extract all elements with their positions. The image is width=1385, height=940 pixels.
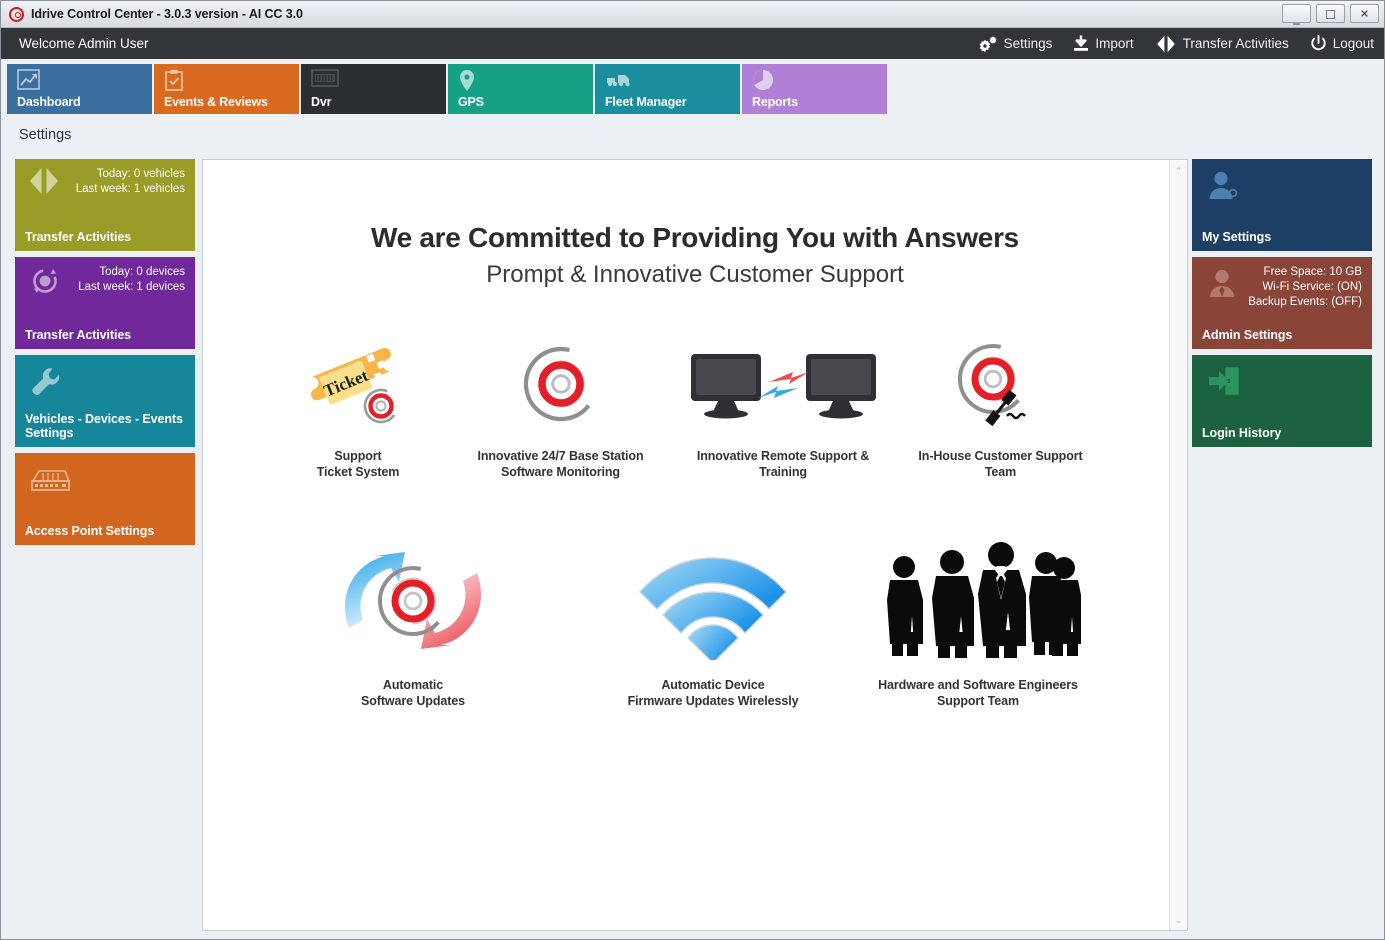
tab-fleet-manager[interactable]: Fleet Manager xyxy=(595,64,740,114)
feature-in-house-support-team: In-House Customer Support Team xyxy=(898,331,1103,480)
left-sidebar: Today: 0 vehicles Last week: 1 vehicles … xyxy=(15,159,195,551)
remote-monitors-icon xyxy=(668,331,898,436)
tile-title: Vehicles - Devices - Events Settings xyxy=(25,412,185,440)
map-pin-icon xyxy=(458,69,476,98)
sidebar-tile-vehicles-devices-events-settings[interactable]: Vehicles - Devices - Events Settings xyxy=(15,355,195,447)
maximize-icon: □ xyxy=(1317,8,1344,19)
header-bar: Welcome Admin User Settings xyxy=(1,28,1384,59)
sync-arrows-target-icon xyxy=(263,535,563,665)
feature-label: Automatic Device Firmware Updates Wirele… xyxy=(563,677,863,709)
clipboard-check-icon xyxy=(164,69,184,96)
header-logout-button[interactable]: Logout xyxy=(1310,35,1374,52)
feature-label: Innovative Remote Support & Training xyxy=(668,448,898,480)
tab-dvr[interactable]: Dvr xyxy=(301,64,446,114)
header-logout-label: Logout xyxy=(1333,36,1374,51)
page-title: We are Committed to Providing You with A… xyxy=(203,222,1187,254)
sidebar-tile-access-point-settings[interactable]: Access Point Settings xyxy=(15,453,195,545)
feature-grid: Ticket Support Ticket System xyxy=(203,331,1187,709)
tile-stats: Free Space: 10 GB Wi-Fi Service: (ON) Ba… xyxy=(1202,265,1362,310)
feature-row-1: Ticket Support Ticket System xyxy=(263,331,1147,480)
tab-dashboard-label: Dashboard xyxy=(17,95,81,109)
feature-row-2: Automatic Software Updates xyxy=(263,535,1147,709)
tile-stat-line: Today: 0 vehicles xyxy=(25,167,185,182)
tile-title: Transfer Activities xyxy=(25,328,131,342)
feature-support-ticket-system: Ticket Support Ticket System xyxy=(263,331,453,480)
header-import-button[interactable]: Import xyxy=(1073,35,1133,52)
header-settings-button[interactable]: Settings xyxy=(978,35,1053,53)
feature-device-firmware-updates: Automatic Device Firmware Updates Wirele… xyxy=(563,535,863,709)
content-scrollbar[interactable]: ⌃ ⌄ xyxy=(1169,161,1186,931)
chart-line-icon xyxy=(17,69,41,96)
right-sidebar: My Settings Free Space: 10 GB Wi-Fi Serv… xyxy=(1192,159,1372,453)
close-button[interactable]: ✕ xyxy=(1350,4,1379,23)
gears-icon xyxy=(978,35,998,53)
minimize-button[interactable]: _ xyxy=(1282,4,1311,23)
window-title: Idrive Control Center - 3.0.3 version - … xyxy=(31,7,303,21)
login-door-icon xyxy=(1206,365,1242,402)
wifi-icon xyxy=(563,535,863,665)
tab-gps-label: GPS xyxy=(458,95,484,109)
application-window: Idrive Control Center - 3.0.3 version - … xyxy=(0,0,1385,940)
page-subtitle: Prompt & Innovative Customer Support xyxy=(203,261,1187,289)
tab-dashboard[interactable]: Dashboard xyxy=(7,64,152,114)
transfer-arrows-icon xyxy=(1155,35,1177,53)
sidebar-tile-transfer-activities-vehicles[interactable]: Today: 0 vehicles Last week: 1 vehicles … xyxy=(15,159,195,251)
tab-reports-label: Reports xyxy=(752,95,798,109)
sidebar-tile-my-settings[interactable]: My Settings xyxy=(1192,159,1372,251)
header-settings-label: Settings xyxy=(1004,36,1053,51)
feature-label: Support Ticket System xyxy=(263,448,453,480)
user-icon xyxy=(1206,169,1240,208)
minimize-icon: _ xyxy=(1283,11,1310,24)
pie-chart-icon xyxy=(752,69,774,96)
tile-stat-line: Backup Events: (OFF) xyxy=(1202,295,1362,310)
power-icon xyxy=(1310,35,1327,52)
title-bar: Idrive Control Center - 3.0.3 version - … xyxy=(1,1,1384,28)
tab-gps[interactable]: GPS xyxy=(448,64,593,114)
tile-stat-line: Last week: 1 vehicles xyxy=(25,182,185,197)
tile-title: Login History xyxy=(1202,426,1281,440)
scroll-down-icon[interactable]: ⌄ xyxy=(1170,912,1187,929)
target-logo-icon xyxy=(453,331,668,436)
people-silhouettes-icon xyxy=(863,535,1093,665)
main-content-panel: ⌃ ⌄ We are Committed to Providing You wi… xyxy=(202,159,1188,931)
tab-events-reviews-label: Events & Reviews xyxy=(164,95,268,109)
router-icon xyxy=(29,465,71,500)
tile-title: Access Point Settings xyxy=(25,524,154,538)
main-navigation-tabs: Dashboard Events & Reviews xyxy=(7,64,887,114)
header-actions: Settings Import Transf xyxy=(978,28,1374,59)
tab-events-reviews[interactable]: Events & Reviews xyxy=(154,64,299,114)
tile-stat-line: Last week: 1 devices xyxy=(25,280,185,295)
tile-stats: Today: 0 devices Last week: 1 devices xyxy=(25,265,185,295)
sidebar-tile-admin-settings[interactable]: Free Space: 10 GB Wi-Fi Service: (ON) Ba… xyxy=(1192,257,1372,349)
vehicles-icon xyxy=(605,69,633,94)
dvr-icon xyxy=(311,69,339,92)
tile-title: Admin Settings xyxy=(1202,328,1292,342)
tab-fleet-manager-label: Fleet Manager xyxy=(605,95,686,109)
tile-title: Transfer Activities xyxy=(25,230,131,244)
download-icon xyxy=(1073,35,1089,52)
feature-engineers-support-team: Hardware and Software Engineers Support … xyxy=(863,535,1093,709)
feature-label: In-House Customer Support Team xyxy=(898,448,1103,480)
feature-base-station-monitoring: Innovative 24/7 Base Station Software Mo… xyxy=(453,331,668,480)
sidebar-tile-login-history[interactable]: Login History xyxy=(1192,355,1372,447)
maximize-button[interactable]: □ xyxy=(1316,4,1345,23)
header-import-label: Import xyxy=(1095,36,1133,51)
target-phone-icon xyxy=(898,331,1103,436)
app-logo-icon xyxy=(9,7,24,22)
welcome-message: Welcome Admin User xyxy=(19,36,149,51)
feature-label: Automatic Software Updates xyxy=(263,677,563,709)
close-icon: ✕ xyxy=(1351,8,1378,19)
header-transfer-activities-button[interactable]: Transfer Activities xyxy=(1155,35,1289,53)
support-ticket-icon: Ticket xyxy=(263,331,453,436)
feature-automatic-software-updates: Automatic Software Updates xyxy=(263,535,563,709)
breadcrumb: Settings xyxy=(19,127,71,143)
tab-dvr-label: Dvr xyxy=(311,95,331,109)
tile-stat-line: Today: 0 devices xyxy=(25,265,185,280)
hero-section: We are Committed to Providing You with A… xyxy=(203,222,1187,289)
window-controls: _ □ ✕ xyxy=(1282,4,1379,23)
tile-title: My Settings xyxy=(1202,230,1271,244)
feature-remote-support-training: Innovative Remote Support & Training xyxy=(668,331,898,480)
tab-reports[interactable]: Reports xyxy=(742,64,887,114)
sidebar-tile-transfer-activities-devices[interactable]: Today: 0 devices Last week: 1 devices Tr… xyxy=(15,257,195,349)
wrench-icon xyxy=(29,365,65,404)
tile-stat-line: Free Space: 10 GB xyxy=(1202,265,1362,280)
scroll-up-icon[interactable]: ⌃ xyxy=(1170,163,1187,180)
tile-stats: Today: 0 vehicles Last week: 1 vehicles xyxy=(25,167,185,197)
header-transfer-label: Transfer Activities xyxy=(1183,36,1289,51)
feature-label: Innovative 24/7 Base Station Software Mo… xyxy=(453,448,668,480)
tile-stat-line: Wi-Fi Service: (ON) xyxy=(1202,280,1362,295)
feature-label: Hardware and Software Engineers Support … xyxy=(863,677,1093,709)
